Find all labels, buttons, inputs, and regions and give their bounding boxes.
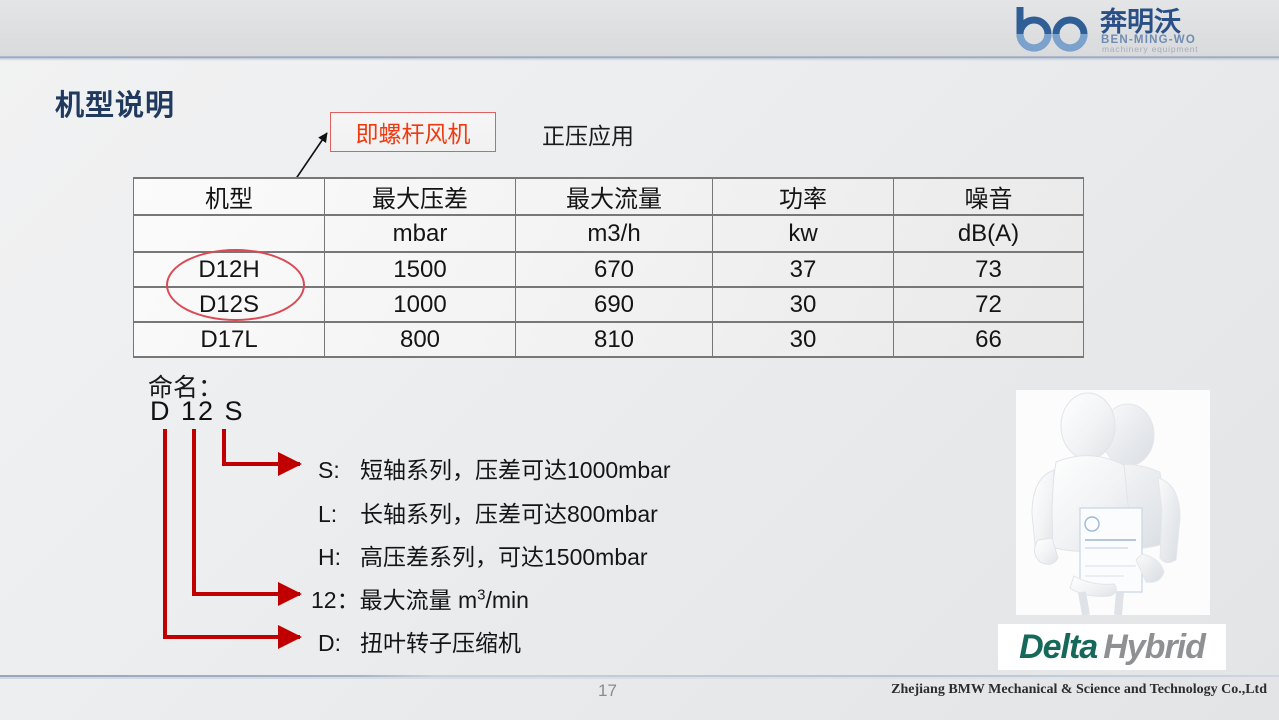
robots-illustration-icon [1016, 390, 1210, 615]
legend-description: 高压差系列，可达1500mbar [360, 538, 648, 572]
legend-key: L: [318, 501, 360, 528]
table-row: D12H 1500 670 37 73 [134, 252, 1084, 287]
table-unit-cell: m3/h [516, 215, 713, 252]
legend-description: 最大流量 m [360, 581, 478, 615]
legend-description: 短轴系列，压差可达1000mbar [360, 451, 671, 485]
table-cell-model: D17L [134, 322, 325, 357]
table-cell-flow: 690 [516, 287, 713, 322]
table-unit-cell: mbar [325, 215, 516, 252]
legend-item-d: D:扭叶转子压缩机 [318, 624, 521, 658]
table-header-cell: 功率 [713, 178, 894, 215]
legend-item-l: L:长轴系列，压差可达800mbar [318, 495, 658, 529]
brand-tagline: machinery equipment [1102, 44, 1198, 54]
legend-key: S: [318, 457, 360, 484]
table-header-cell: 机型 [134, 178, 325, 215]
bracket-d [165, 429, 300, 637]
legend-item-h: H:高压差系列，可达1500mbar [318, 538, 648, 572]
delta-hybrid-logo: Delta Hybrid [998, 624, 1226, 670]
table-header-cell: 最大流量 [516, 178, 713, 215]
product-photo [1016, 390, 1210, 615]
bracket-12 [194, 429, 300, 594]
table-cell-model: D12S [134, 287, 325, 322]
table-cell-noise: 73 [894, 252, 1084, 287]
legend-description: 扭叶转子压缩机 [360, 624, 521, 658]
table-row: D17L 800 810 30 66 [134, 322, 1084, 357]
bracket-s [224, 429, 300, 464]
table-cell-model: D12H [134, 252, 325, 287]
slide-canvas: 奔明沃 BEN-MING-WO machinery equipment 机型说明… [0, 0, 1279, 720]
table-unit-cell: dB(A) [894, 215, 1084, 252]
legend-item-s: S:短轴系列，压差可达1000mbar [318, 451, 671, 485]
legend-description: 长轴系列，压差可达800mbar [360, 495, 658, 529]
delta-word: Delta [1019, 628, 1097, 667]
legend-key: 12： [311, 587, 360, 613]
page-title: 机型说明 [55, 82, 175, 124]
table-header-row-1: 机型 最大压差 最大流量 功率 噪音 [134, 178, 1084, 215]
table-cell-pressure: 1500 [325, 252, 516, 287]
table-cell-pressure: 800 [325, 322, 516, 357]
brand-name-cn: 奔明沃 [1100, 7, 1181, 37]
table-cell-flow: 810 [516, 322, 713, 357]
table-unit-cell: kw [713, 215, 894, 252]
table-header-cell: 噪音 [894, 178, 1084, 215]
footer-company-name: Zhejiang BMW Mechanical & Science and Te… [891, 682, 1267, 698]
legend-description-suffix: /min [486, 587, 529, 613]
legend-key: H: [318, 544, 360, 571]
legend-superscript: 3 [477, 586, 485, 603]
footer-divider-shadow [0, 677, 1279, 679]
table-row: D12S 1000 690 30 72 [134, 287, 1084, 322]
table-cell-noise: 72 [894, 287, 1084, 322]
legend-item-12: 12：最大流量 m3/min [311, 581, 529, 615]
table-cell-power: 30 [713, 322, 894, 357]
table-header-cell: 最大压差 [325, 178, 516, 215]
header-divider-shadow [0, 59, 1279, 61]
table-cell-noise: 66 [894, 322, 1084, 357]
callout-text: 即螺杆风机 [356, 115, 471, 149]
page-number: 17 [598, 681, 617, 701]
company-logo: 奔明沃 BEN-MING-WO machinery equipment [1012, 4, 1267, 54]
table-cell-flow: 670 [516, 252, 713, 287]
table-unit-row: mbar m3/h kw dB(A) [134, 215, 1084, 252]
table-cell-power: 37 [713, 252, 894, 287]
callout-box: 即螺杆风机 [330, 112, 496, 152]
naming-code: D 12 S [150, 396, 245, 427]
bo-monogram-icon [1020, 7, 1084, 48]
hybrid-word: Hybrid [1103, 628, 1205, 667]
legend-key: D: [318, 630, 360, 657]
specification-table: 机型 最大压差 最大流量 功率 噪音 mbar m3/h kw dB(A) D1… [133, 177, 1084, 358]
table-cell-pressure: 1000 [325, 287, 516, 322]
table-cell-power: 30 [713, 287, 894, 322]
positive-pressure-label: 正压应用 [542, 117, 634, 151]
table-unit-cell [134, 215, 325, 252]
